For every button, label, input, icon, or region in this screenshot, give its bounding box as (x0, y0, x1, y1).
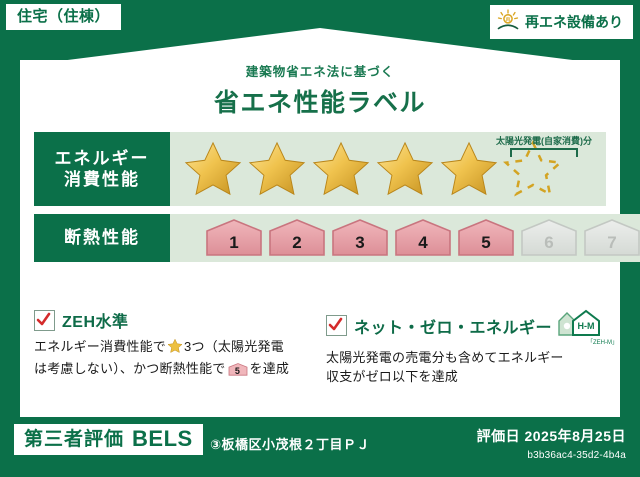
insulation-grade-6-value: 6 (519, 233, 579, 253)
zeh-criteria-column: ZEH水準 エネルギー消費性能で 3つ（太陽光発電 は考慮しない）、かつ断熱性能… (34, 308, 314, 404)
bels-jp-label: 第三者評価 (24, 430, 124, 449)
netzero-heading: ネット・ゼロ・エネルギー (354, 314, 552, 338)
insulation-grade-5-value: 5 (456, 233, 516, 253)
insulation-grade-2-value: 2 (267, 233, 327, 253)
insulation-grade-7-value: 7 (582, 233, 640, 253)
insulation-grade-7: 7 (582, 218, 640, 258)
star-icon-inline (167, 342, 183, 357)
house-type-tag: 住宅（住棟） (6, 4, 121, 30)
criteria-section: ZEH水準 エネルギー消費性能で 3つ（太陽光発電 は考慮しない）、かつ断熱性能… (34, 308, 606, 404)
star-icon-3 (310, 139, 372, 199)
evaluation-id: b3b36ac4-35d2-4b4a (477, 450, 626, 461)
star-icon-2 (246, 139, 308, 199)
insulation-performance-row: 断熱性能 1 (34, 214, 606, 262)
renewable-equipment-label: 再エネ設備あり (525, 15, 623, 29)
energy-label-line1: エネルギー (55, 148, 150, 169)
energy-label-line2: 消費性能 (64, 169, 140, 190)
zeh-desc-part1: エネルギー消費性能で (34, 339, 166, 354)
zeh-m-caption: 「ZEH-M」 (587, 337, 618, 346)
insulation-grade-3-value: 3 (330, 233, 390, 253)
insulation-grade-1-value: 1 (204, 233, 264, 253)
insulation-grade-3: 3 (330, 218, 390, 258)
renewable-equipment-badge: 再 再エネ設備あり (490, 5, 633, 39)
house-icon-inline: 5 (228, 362, 248, 377)
energy-performance-row: エネルギー 消費性能 (34, 132, 606, 206)
svg-text:再: 再 (505, 16, 511, 23)
zeh-checkbox[interactable] (34, 310, 55, 331)
performance-rows: エネルギー 消費性能 (34, 132, 606, 270)
sun-icon: 再 (496, 9, 520, 35)
zeh-m-logo: H-M 「ZEH-M」 (557, 308, 605, 343)
insulation-performance-label: 断熱性能 (34, 214, 170, 262)
energy-performance-stars-area: 太陽光発電(自家消費)分 (170, 132, 606, 206)
check-icon (328, 317, 343, 332)
netzero-criteria-column: ネット・ゼロ・エネルギー H-M 「ZEH-M」 (326, 308, 606, 404)
insulation-grade-list: 1 2 3 (170, 218, 640, 258)
netzero-desc-line1: 太陽光発電の売電分も含めてエネルギー (326, 350, 564, 365)
insulation-grade-4: 4 (393, 218, 453, 258)
insulation-grades-area: 1 2 3 (170, 214, 640, 262)
pv-bracket-line (510, 148, 578, 157)
svg-text:H-M: H-M (578, 321, 595, 331)
label-card: 建築物省エネ法に基づく 省エネ性能ラベル エネルギー 消費性能 (20, 60, 620, 417)
energy-label-root: 住宅（住棟） 再 再エネ設備あり (0, 0, 640, 477)
page-title: 省エネ性能ラベル (20, 83, 620, 119)
insulation-grade-2: 2 (267, 218, 327, 258)
netzero-description: 太陽光発電の売電分も含めてエネルギー 収支がゼロ以下を達成 (326, 349, 606, 387)
pv-note-text: 太陽光発電(自家消費)分 (496, 136, 592, 146)
insulation-grade-1: 1 (204, 218, 264, 258)
zeh-desc-part2: 3つ（太陽光発電 (184, 339, 284, 354)
pv-note: 太陽光発電(自家消費)分 (490, 134, 598, 157)
insulation-grade-4-value: 4 (393, 233, 453, 253)
star-icon-4 (374, 139, 436, 199)
insulation-grade-5: 5 (456, 218, 516, 258)
house-icon-inline-value: 5 (228, 365, 248, 378)
energy-performance-label: エネルギー 消費性能 (34, 132, 170, 206)
zeh-heading: ZEH水準 (62, 308, 129, 332)
insulation-grade-6: 6 (519, 218, 579, 258)
check-icon (36, 312, 51, 327)
evaluation-info: 評価日 2025年8月25日 b3b36ac4-35d2-4b4a (477, 426, 626, 461)
zeh-m-house-icon: H-M (557, 308, 605, 338)
netzero-checkbox[interactable] (326, 315, 347, 336)
zeh-desc-part4: を達成 (250, 361, 290, 376)
bels-badge: 第三者評価 BELS (14, 424, 203, 455)
evaluation-date: 評価日 2025年8月25日 (477, 426, 626, 446)
title-subtitle: 建築物省エネ法に基づく (20, 60, 620, 80)
netzero-heading-row: ネット・ゼロ・エネルギー H-M 「ZEH-M」 (326, 308, 606, 343)
footer-bar: 第三者評価 BELS ③板橋区小茂根２丁目ＰＪ 評価日 2025年8月25日 b… (0, 420, 640, 477)
zeh-heading-row: ZEH水準 (34, 308, 314, 332)
project-name: ③板橋区小茂根２丁目ＰＪ (210, 434, 370, 453)
zeh-description: エネルギー消費性能で 3つ（太陽光発電 は考慮しない）、かつ断熱性能で 5を達成 (34, 338, 314, 379)
netzero-desc-line2: 収支がゼロ以下を達成 (326, 369, 458, 384)
star-icon-1 (182, 139, 244, 199)
bels-en-label: BELS (132, 428, 193, 450)
zeh-desc-part3: は考慮しない）、かつ断熱性能で (34, 361, 226, 376)
